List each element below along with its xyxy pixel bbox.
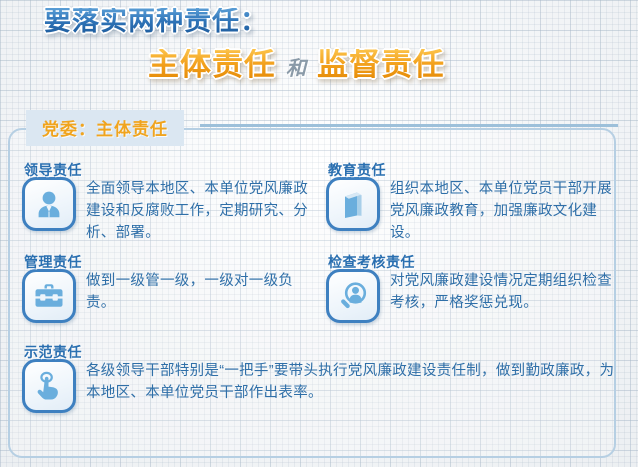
responsibility-item-education: 教育责任 组织本地区、本单位党员干部开展党风廉政教育，加强廉政文化建设。	[326, 177, 626, 244]
responsibility-item-management: 管理责任 做到一级管一级，一级对一级负责。	[22, 269, 322, 323]
section-badge-label: 党委：主体责任	[42, 120, 168, 139]
pointing-hand-icon	[22, 359, 76, 413]
title-line-2: 主体责任 和 监督责任	[148, 49, 638, 80]
page-title: 要落实两种责任： 主体责任 和 监督责任	[0, 8, 638, 80]
briefcase-icon	[22, 269, 76, 323]
book-icon	[326, 177, 380, 231]
person-icon	[22, 177, 76, 231]
item-description: 对党风廉政建设情况定期组织检查考核，严格奖惩兑现。	[390, 269, 626, 314]
responsibility-item-leadership: 领导责任 全面领导本地区、本单位党风廉政建设和反腐败工作，定期研究、分析、部署。	[22, 177, 322, 244]
item-heading: 教育责任	[328, 160, 386, 180]
item-description: 各级领导干部特别是“一把手”要带头执行党风廉政建设责任制，做到勤政廉政，为本地区…	[86, 359, 616, 404]
item-heading: 示范责任	[24, 342, 82, 362]
item-description: 做到一级管一级，一级对一级负责。	[86, 269, 322, 314]
item-heading: 检查考核责任	[328, 252, 415, 272]
section-badge: 党委：主体责任	[26, 110, 184, 146]
title-supervision-responsibility: 监督责任	[317, 49, 445, 80]
item-heading: 领导责任	[24, 160, 82, 180]
title-subject-responsibility: 主体责任	[148, 49, 276, 80]
item-heading: 管理责任	[24, 252, 82, 272]
section-divider-rule	[200, 124, 618, 127]
responsibility-item-inspection: 检查考核责任 对党风廉政建设情况定期组织检查考核，严格奖惩兑现。	[326, 269, 626, 323]
magnifier-person-icon	[326, 269, 380, 323]
item-description: 全面领导本地区、本单位党风廉政建设和反腐败工作，定期研究、分析、部署。	[86, 177, 322, 244]
responsibility-item-example: 示范责任 各级领导干部特别是“一把手”要带头执行党风廉政建设责任制，做到勤政廉政…	[22, 359, 617, 413]
title-conjunction: 和	[286, 59, 307, 79]
item-description: 组织本地区、本单位党员干部开展党风廉政教育，加强廉政文化建设。	[390, 177, 626, 244]
title-line-1: 要落实两种责任：	[44, 8, 638, 35]
